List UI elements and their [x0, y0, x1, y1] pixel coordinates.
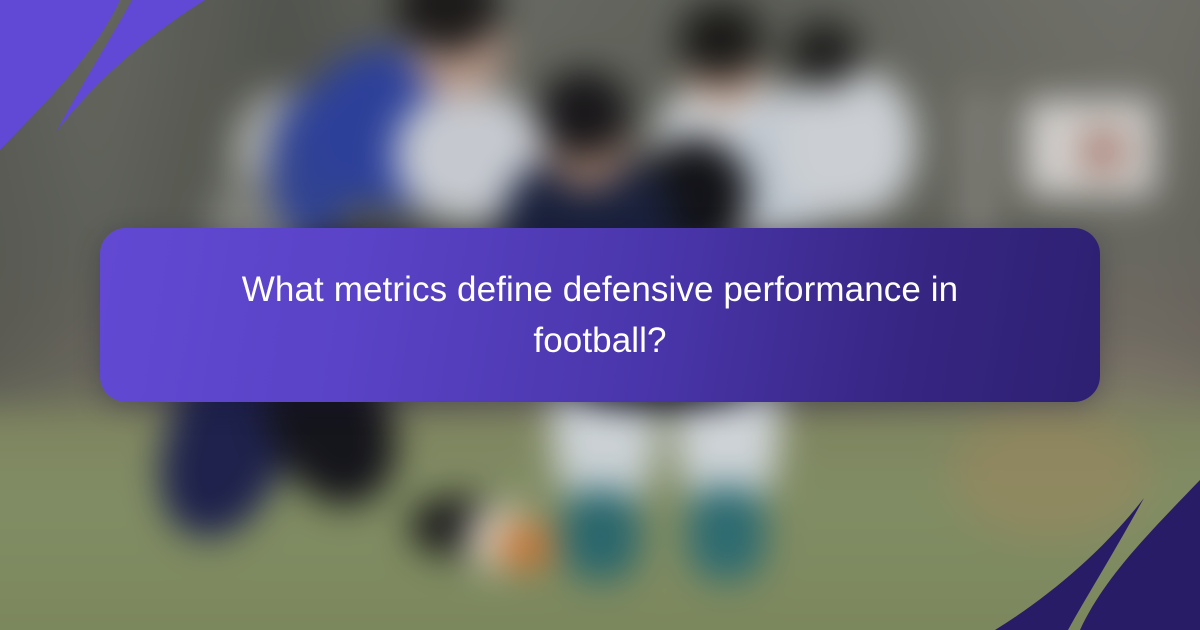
- share-card: What metrics define defensive performanc…: [0, 0, 1200, 630]
- question-banner: What metrics define defensive performanc…: [100, 228, 1100, 402]
- question-text: What metrics define defensive performanc…: [205, 264, 995, 367]
